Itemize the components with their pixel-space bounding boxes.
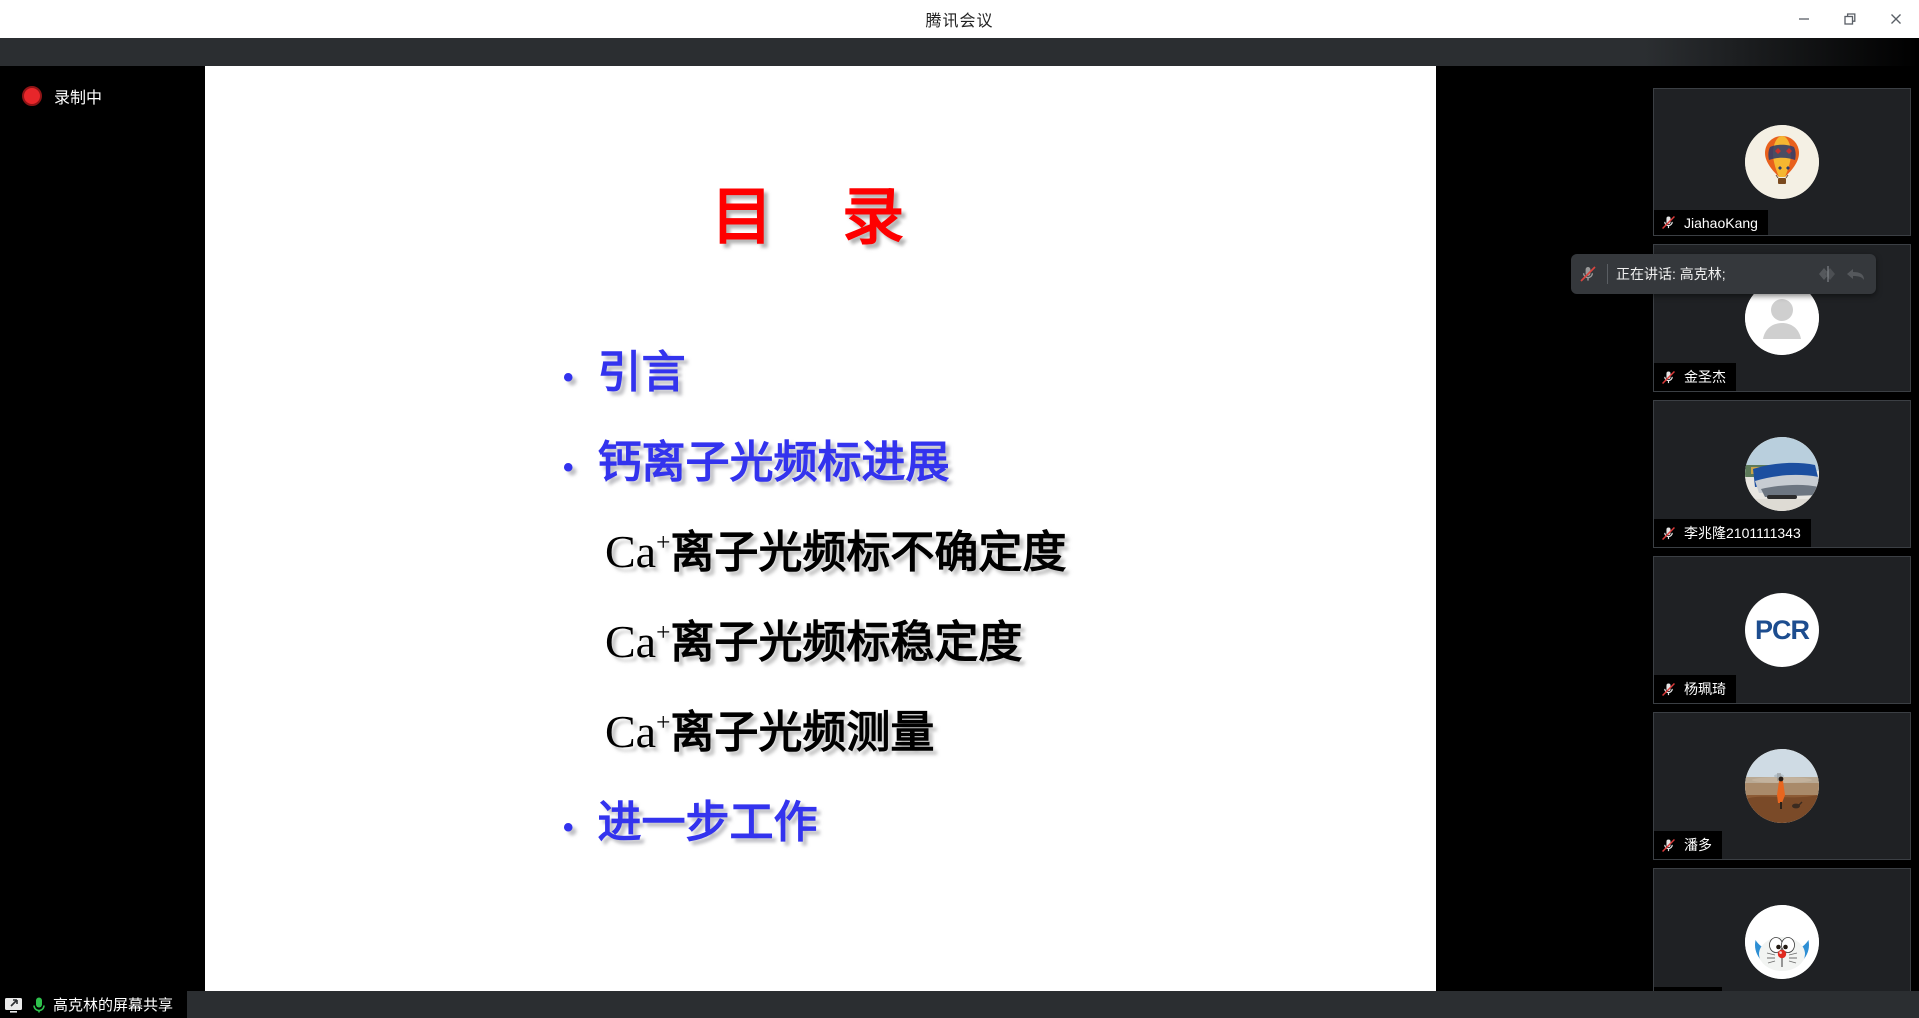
participant-tile[interactable]: 潘多 xyxy=(1653,712,1911,860)
slide-item-level1: • 钙离子光频标进展 xyxy=(205,426,1436,490)
participant-label: 金圣杰 xyxy=(1654,363,1736,391)
participant-tile[interactable]: 李兆隆2101111343 xyxy=(1653,400,1911,548)
mic-muted-icon xyxy=(1578,264,1598,284)
slide-item-text: 离子光频测量 xyxy=(670,708,934,757)
slide-item-level1: • 引言 xyxy=(205,336,1436,400)
slide-item-level1: • 进一步工作 xyxy=(205,786,1436,850)
slide-item-text: 离子光频标不确定度 xyxy=(670,528,1066,577)
participant-tile[interactable]: JiahaoKang xyxy=(1653,88,1911,236)
shared-screen-slide[interactable]: 目 录 • 引言 • 钙离子光频标进展 Ca+离子光频标不确定度 Ca+离子光频… xyxy=(205,66,1436,991)
bullet-icon: • xyxy=(563,453,574,483)
recording-label: 录制中 xyxy=(54,84,102,108)
participant-tile[interactable]: PCR 杨珮琦 xyxy=(1653,556,1911,704)
participant-label: 李兆隆2101111343 xyxy=(1654,519,1811,547)
participant-name: JiahaoKang xyxy=(1684,215,1758,231)
restore-icon xyxy=(1843,12,1857,26)
avatar-text: PCR xyxy=(1755,615,1809,646)
toast-divider xyxy=(1607,264,1608,284)
title-bar: 腾讯会议 xyxy=(0,0,1919,38)
swap-view-icon xyxy=(1817,264,1839,284)
mic-muted-icon xyxy=(1660,837,1677,854)
participant-label: JiahaoKang xyxy=(1654,210,1768,235)
doraemon-avatar-icon xyxy=(1745,905,1819,979)
slide-item-level2: Ca+离子光频标不确定度 xyxy=(205,516,1436,580)
share-status-text: 高克林的屏幕共享 xyxy=(53,994,173,1015)
mic-on-green-icon xyxy=(30,995,48,1015)
slide-item-text: 引言 xyxy=(598,336,686,400)
avatar xyxy=(1745,749,1819,823)
slide-item-level2: Ca+离子光频标稳定度 xyxy=(205,606,1436,670)
participant-name: 李兆隆2101111343 xyxy=(1684,523,1801,543)
participant-name: 潘多 xyxy=(1684,835,1712,855)
avatar xyxy=(1745,905,1819,979)
screen-share-icon xyxy=(3,995,25,1015)
mic-muted-icon xyxy=(1660,525,1677,542)
close-icon xyxy=(1889,12,1903,26)
minimize-button[interactable] xyxy=(1781,0,1827,38)
participant-sidebar[interactable]: JiahaoKang 金圣杰 xyxy=(1645,66,1919,1018)
top-toolbar-strip-right xyxy=(1645,38,1919,66)
mic-muted-icon xyxy=(1660,681,1677,698)
toast-actions xyxy=(1816,262,1876,286)
app-body: 录制中 目 录 • 引言 • 钙离子光频标进展 Ca+离子光频标不确定度 Ca+… xyxy=(0,38,1919,1018)
participant-label: 潘多 xyxy=(1654,831,1722,859)
slide-item-level2: Ca+离子光频测量 xyxy=(205,696,1436,760)
slide-bullet-list: • 引言 • 钙离子光频标进展 Ca+离子光频标不确定度 Ca+离子光频标稳定度… xyxy=(205,336,1436,876)
avatar xyxy=(1745,125,1819,199)
bullet-icon: • xyxy=(563,363,574,393)
chemical-formula: Ca+ xyxy=(605,526,670,577)
slide-item-text: 钙离子光频标进展 xyxy=(598,426,950,490)
participant-name: 杨珮琦 xyxy=(1684,679,1726,699)
recording-indicator[interactable]: 录制中 xyxy=(22,84,102,108)
slide-title: 目 录 xyxy=(205,166,1436,256)
close-button[interactable] xyxy=(1873,0,1919,38)
avatar xyxy=(1745,437,1819,511)
minimize-icon xyxy=(1797,12,1811,26)
screen-share-status[interactable]: 高克林的屏幕共享 xyxy=(0,991,187,1018)
maglev-train-avatar-icon xyxy=(1745,437,1819,511)
toast-mic-button[interactable] xyxy=(1571,264,1605,284)
swap-view-button[interactable] xyxy=(1816,262,1840,286)
mic-muted-icon xyxy=(1660,369,1677,386)
record-dot-icon xyxy=(22,86,42,106)
avatar: PCR xyxy=(1745,593,1819,667)
top-toolbar-strip xyxy=(0,38,1645,66)
landscape-hiker-avatar-icon xyxy=(1745,749,1819,823)
participant-label: 杨珮琦 xyxy=(1654,675,1736,703)
chemical-formula: Ca+ xyxy=(605,616,670,667)
restore-button[interactable] xyxy=(1827,0,1873,38)
undo-arrow-button[interactable] xyxy=(1844,262,1868,286)
bottom-bar: 高克林的屏幕共享 xyxy=(0,991,1919,1018)
window-title: 腾讯会议 xyxy=(925,7,993,31)
hot-air-balloon-avatar-icon xyxy=(1745,125,1819,199)
speaking-toast[interactable]: 正在讲话: 高克林; xyxy=(1571,254,1876,294)
participant-name: 金圣杰 xyxy=(1684,367,1726,387)
speaking-text: 正在讲话: 高克林; xyxy=(1616,264,1816,284)
slide-item-text: 离子光频标稳定度 xyxy=(670,618,1022,667)
chemical-formula: Ca+ xyxy=(605,706,670,757)
undo-arrow-icon xyxy=(1845,264,1867,284)
mic-muted-icon xyxy=(1660,214,1677,231)
bullet-icon: • xyxy=(563,813,574,843)
slide-item-text: 进一步工作 xyxy=(598,786,818,850)
window-controls xyxy=(1781,0,1919,38)
